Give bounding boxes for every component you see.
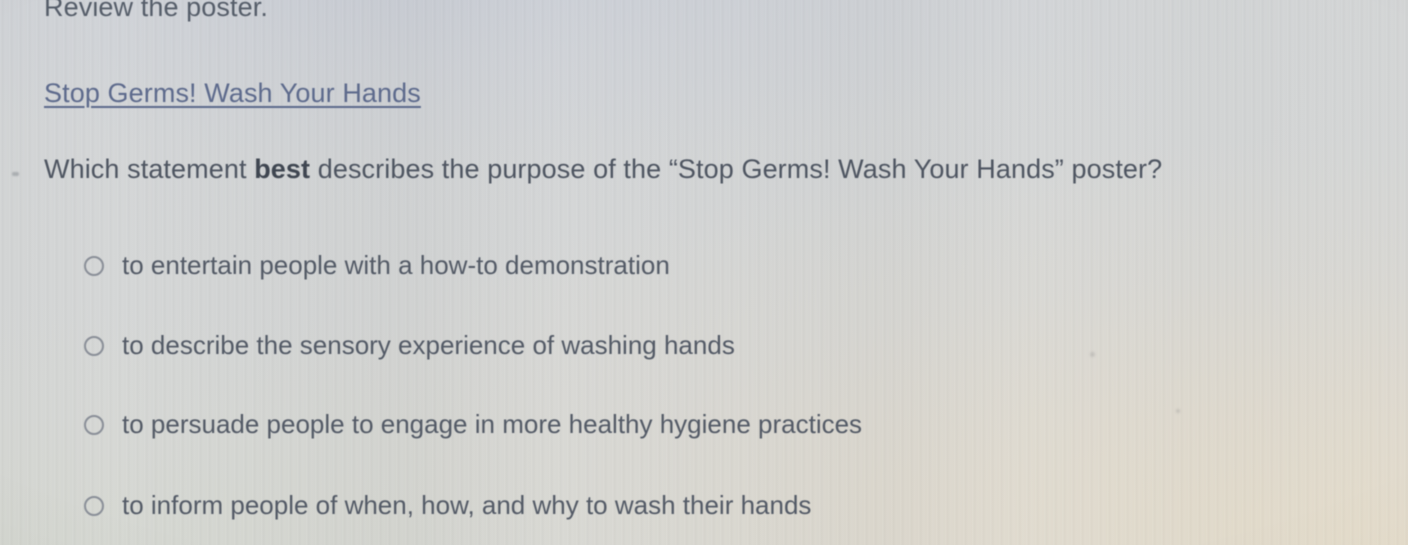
review-instruction: Review the poster. (44, 0, 268, 23)
answer-choice-label-3: to inform people of when, how, and why t… (122, 490, 811, 521)
left-margin-speck (12, 172, 19, 176)
question-emphasis-word: best (254, 154, 310, 184)
poster-link[interactable]: Stop Germs! Wash Your Hands (44, 78, 421, 109)
photo-dust-speck (1090, 352, 1095, 357)
question-text-before: Which statement (44, 154, 254, 184)
radio-button-icon-1[interactable] (84, 336, 104, 356)
answer-choice-label-0: to entertain people with a how-to demons… (122, 250, 670, 281)
radio-button-icon-3[interactable] (84, 496, 104, 516)
answer-choice-0[interactable]: to entertain people with a how-to demons… (84, 250, 670, 281)
quiz-content: Review the poster. Stop Germs! Wash Your… (0, 0, 1408, 545)
quiz-screen-photo: Review the poster. Stop Germs! Wash Your… (0, 0, 1408, 545)
question-text-after: describes the purpose of the “Stop Germs… (310, 154, 1162, 184)
answer-choice-1[interactable]: to describe the sensory experience of wa… (84, 330, 735, 361)
radio-button-icon-0[interactable] (84, 256, 104, 276)
answer-choice-label-1: to describe the sensory experience of wa… (122, 330, 735, 361)
answer-choice-3[interactable]: to inform people of when, how, and why t… (84, 490, 811, 521)
photo-dust-speck (1176, 409, 1180, 413)
answer-choice-label-2: to persuade people to engage in more hea… (122, 409, 862, 440)
radio-button-icon-2[interactable] (84, 415, 104, 435)
question-stem: Which statement best describes the purpo… (44, 154, 1162, 185)
answer-choice-2[interactable]: to persuade people to engage in more hea… (84, 409, 862, 440)
